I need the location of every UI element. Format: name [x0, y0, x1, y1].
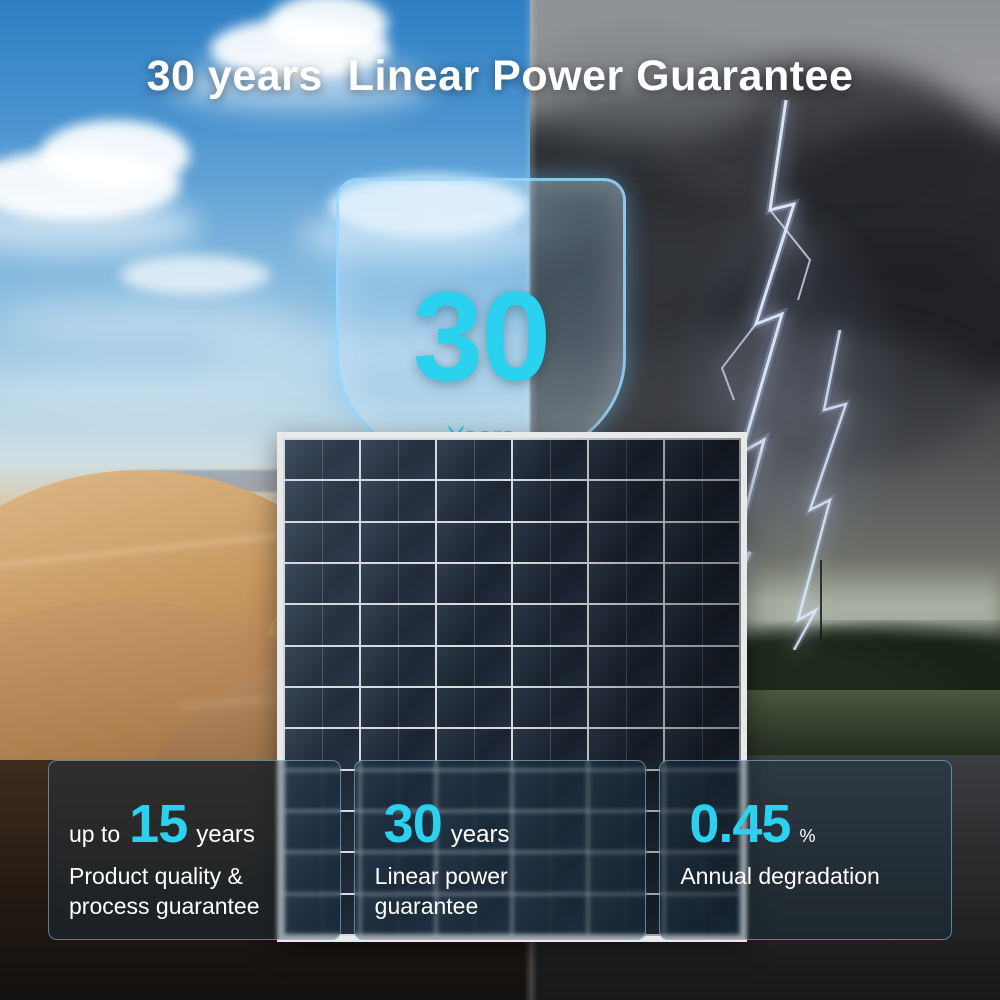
metric: up to 15 years — [69, 799, 320, 850]
metric-unit: years — [451, 821, 510, 849]
card-description: Product quality & process guarantee — [69, 862, 320, 921]
card-description: Annual degradation — [680, 862, 931, 891]
metric: 30 years — [375, 799, 626, 850]
feature-card-linear-power[interactable]: 30 years Linear power guarantee — [354, 760, 647, 940]
metric-unit: years — [196, 821, 255, 849]
page-title: 30 years Linear Power Guarantee — [0, 52, 1000, 101]
metric-prefix: up to — [69, 821, 120, 848]
feature-card-row: up to 15 years Product quality & process… — [48, 760, 952, 940]
poster-canvas: 30 years Linear Power Guarantee 30 Years — [0, 0, 1000, 1000]
card-description: Linear power guarantee — [375, 862, 626, 921]
metric: 0.45 % — [680, 799, 931, 850]
metric-value: 30 — [384, 799, 442, 850]
metric-value: 15 — [129, 799, 187, 850]
metric-value: 0.45 — [689, 799, 790, 850]
shield-number: 30 — [336, 274, 626, 400]
feature-card-annual-degradation[interactable]: 0.45 % Annual degradation — [659, 760, 952, 940]
warranty-shield-badge: 30 Years — [336, 178, 626, 468]
metric-unit: % — [799, 826, 815, 847]
feature-card-product-quality[interactable]: up to 15 years Product quality & process… — [48, 760, 341, 940]
